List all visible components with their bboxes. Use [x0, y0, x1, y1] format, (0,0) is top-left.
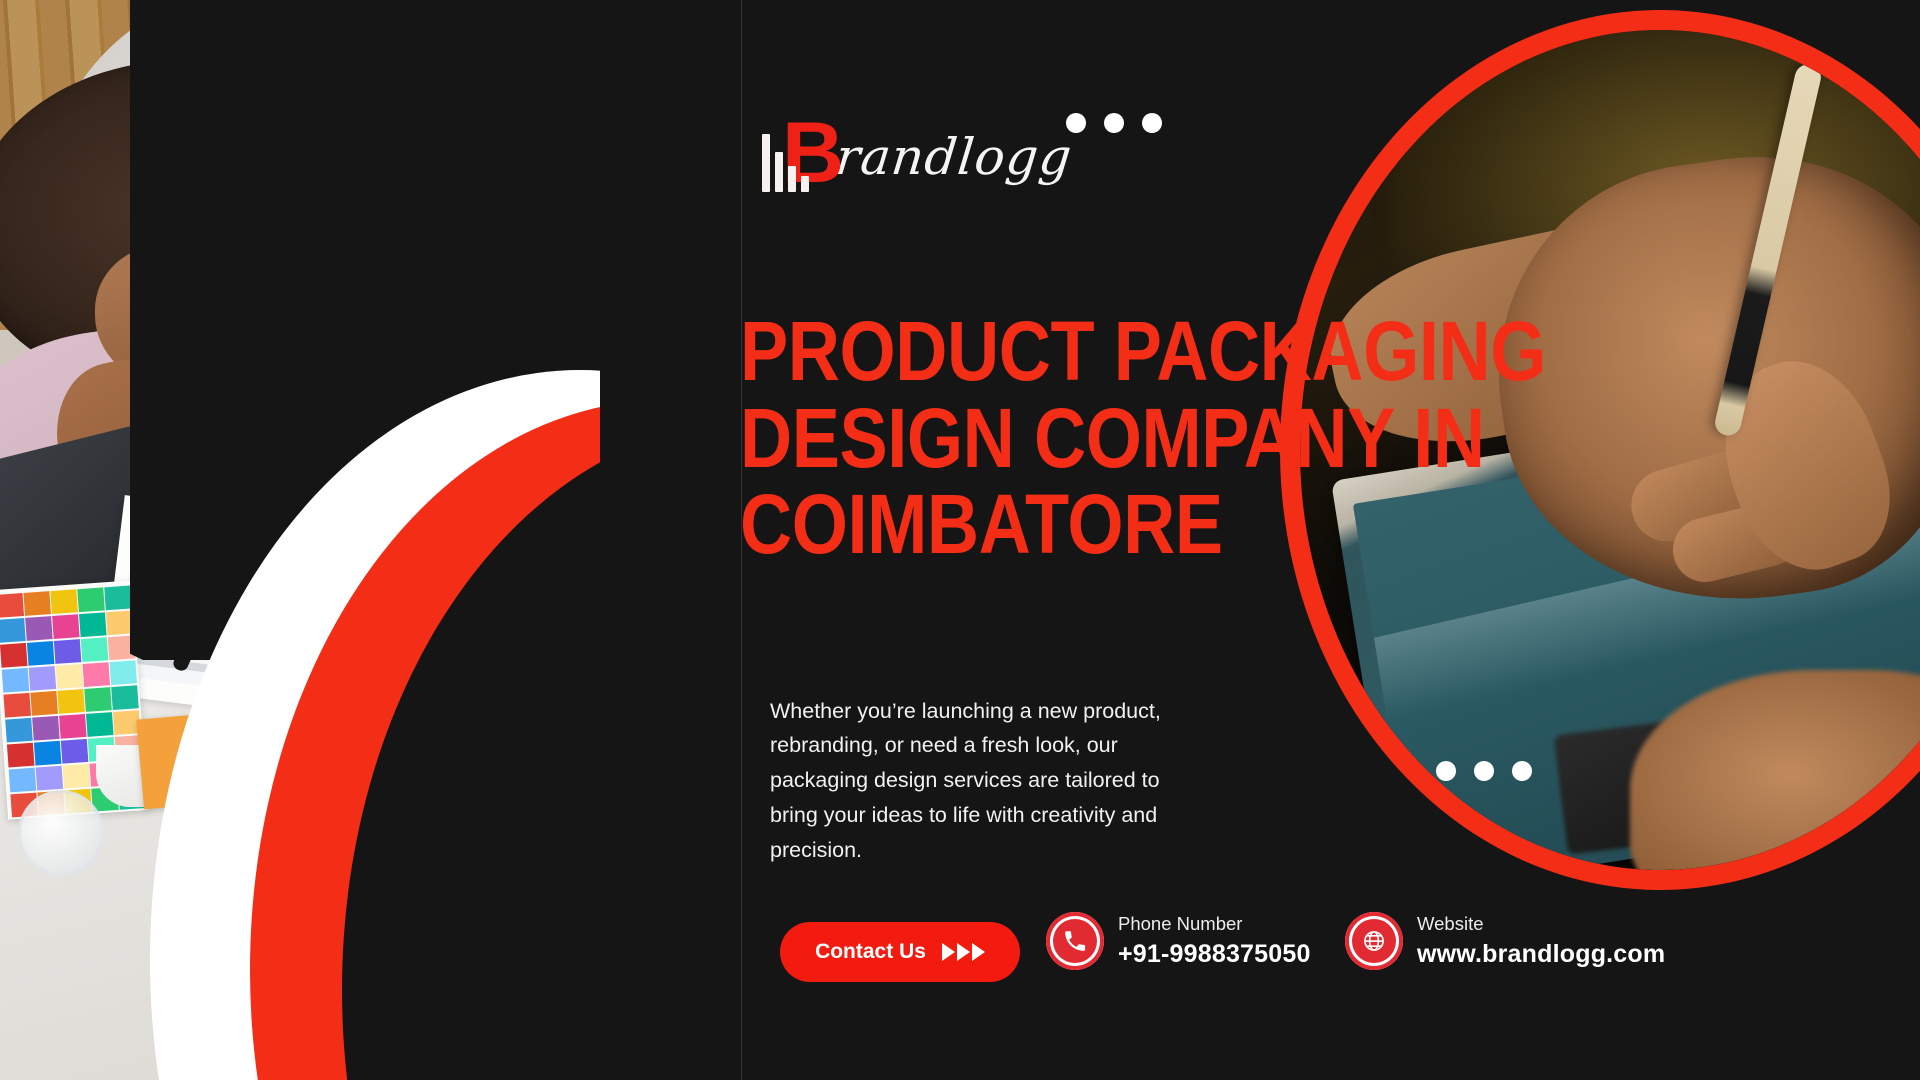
- phone-value: +91-9988375050: [1118, 940, 1311, 969]
- body-paragraph: Whether you’re launching a new product, …: [770, 694, 1210, 868]
- phone-icon: [1046, 912, 1104, 970]
- left-photo-panel: [0, 0, 700, 1080]
- bar-chart-bars: [762, 128, 809, 192]
- dot-icon: [1066, 113, 1086, 133]
- dot-icon: [1104, 113, 1124, 133]
- contact-us-button[interactable]: Contact Us: [780, 922, 1020, 982]
- triple-chevron-right-icon: [942, 943, 985, 961]
- panel-edge-mask: [600, 0, 700, 1080]
- headline-line-3: COIMBATORE: [740, 481, 1394, 568]
- globe-icon: [1345, 912, 1403, 970]
- decor-dots-top: [1066, 113, 1162, 133]
- website-label: Website: [1417, 913, 1665, 935]
- dot-icon: [1436, 761, 1456, 781]
- dot-icon: [1512, 761, 1532, 781]
- headline-line-1: PRODUCT PACKAGING: [740, 308, 1394, 395]
- brand-logo[interactable]: B randlogg: [762, 118, 1072, 196]
- phone-label: Phone Number: [1118, 913, 1311, 935]
- contact-phone[interactable]: Phone Number +91-9988375050: [1046, 912, 1311, 970]
- contact-us-label: Contact Us: [815, 940, 926, 964]
- dot-icon: [1474, 761, 1494, 781]
- page-title: PRODUCT PACKAGING DESIGN COMPANY IN COIM…: [740, 308, 1394, 568]
- headline-line-2: DESIGN COMPANY IN: [740, 395, 1394, 482]
- poster-canvas: B randlogg PRODUCT PACKAGING DESIGN COMP…: [0, 0, 1920, 1080]
- dot-icon: [1142, 113, 1162, 133]
- bar-chart-b-logo-icon: B: [762, 118, 834, 196]
- contact-website[interactable]: Website www.brandlogg.com: [1345, 912, 1665, 970]
- logo-wordmark: randlogg: [833, 128, 1075, 186]
- website-value: www.brandlogg.com: [1417, 940, 1665, 969]
- decor-dots-bottom: [1436, 761, 1532, 781]
